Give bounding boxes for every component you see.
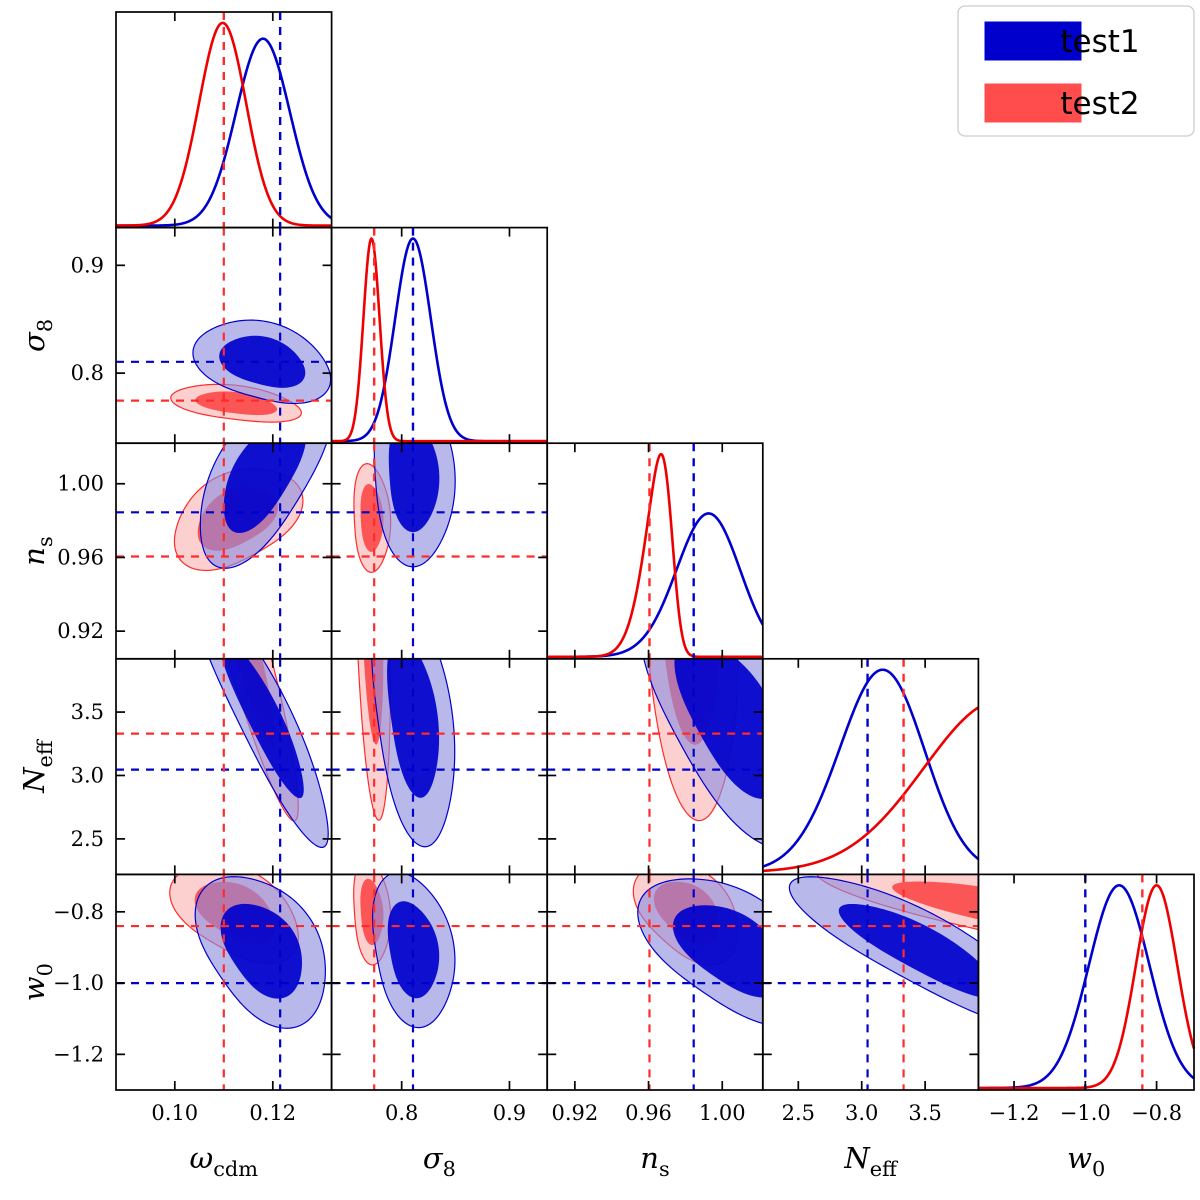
panel-N_eff-vs-n_s [547, 417, 815, 874]
panel-w_0-vs-sigma_8 [332, 859, 548, 1090]
panel-diag-sigma_8 [332, 228, 548, 444]
posterior-curve-test1-N_eff [763, 670, 979, 867]
panel-diag-N_eff [763, 659, 979, 875]
panel-diag-n_s [547, 443, 763, 659]
posterior-curve-test1-n_s [547, 513, 763, 656]
panel-w_0-vs-n_s [547, 864, 818, 1090]
posterior-curve-test2-n_s [547, 454, 763, 657]
posterior-curve-test2-sigma_8 [332, 239, 548, 442]
corner-plot-canvas [0, 0, 1200, 1200]
posterior-curve-test1-sigma_8 [332, 239, 548, 442]
panel-diag-w_cdm [116, 12, 332, 228]
panel-sigma_8-vs-w_cdm [116, 228, 332, 444]
posterior-curve-test2-N_eff [763, 707, 979, 870]
panel-w_0-vs-w_cdm [116, 864, 332, 1090]
panel-diag-w_0 [978, 874, 1194, 1090]
panel-n_s-vs-sigma_8 [332, 383, 548, 659]
corner-plot-figure: test1 test2 0.80.90.920.961.002.53.03.50… [0, 0, 1200, 1200]
panel-frame [332, 228, 548, 444]
